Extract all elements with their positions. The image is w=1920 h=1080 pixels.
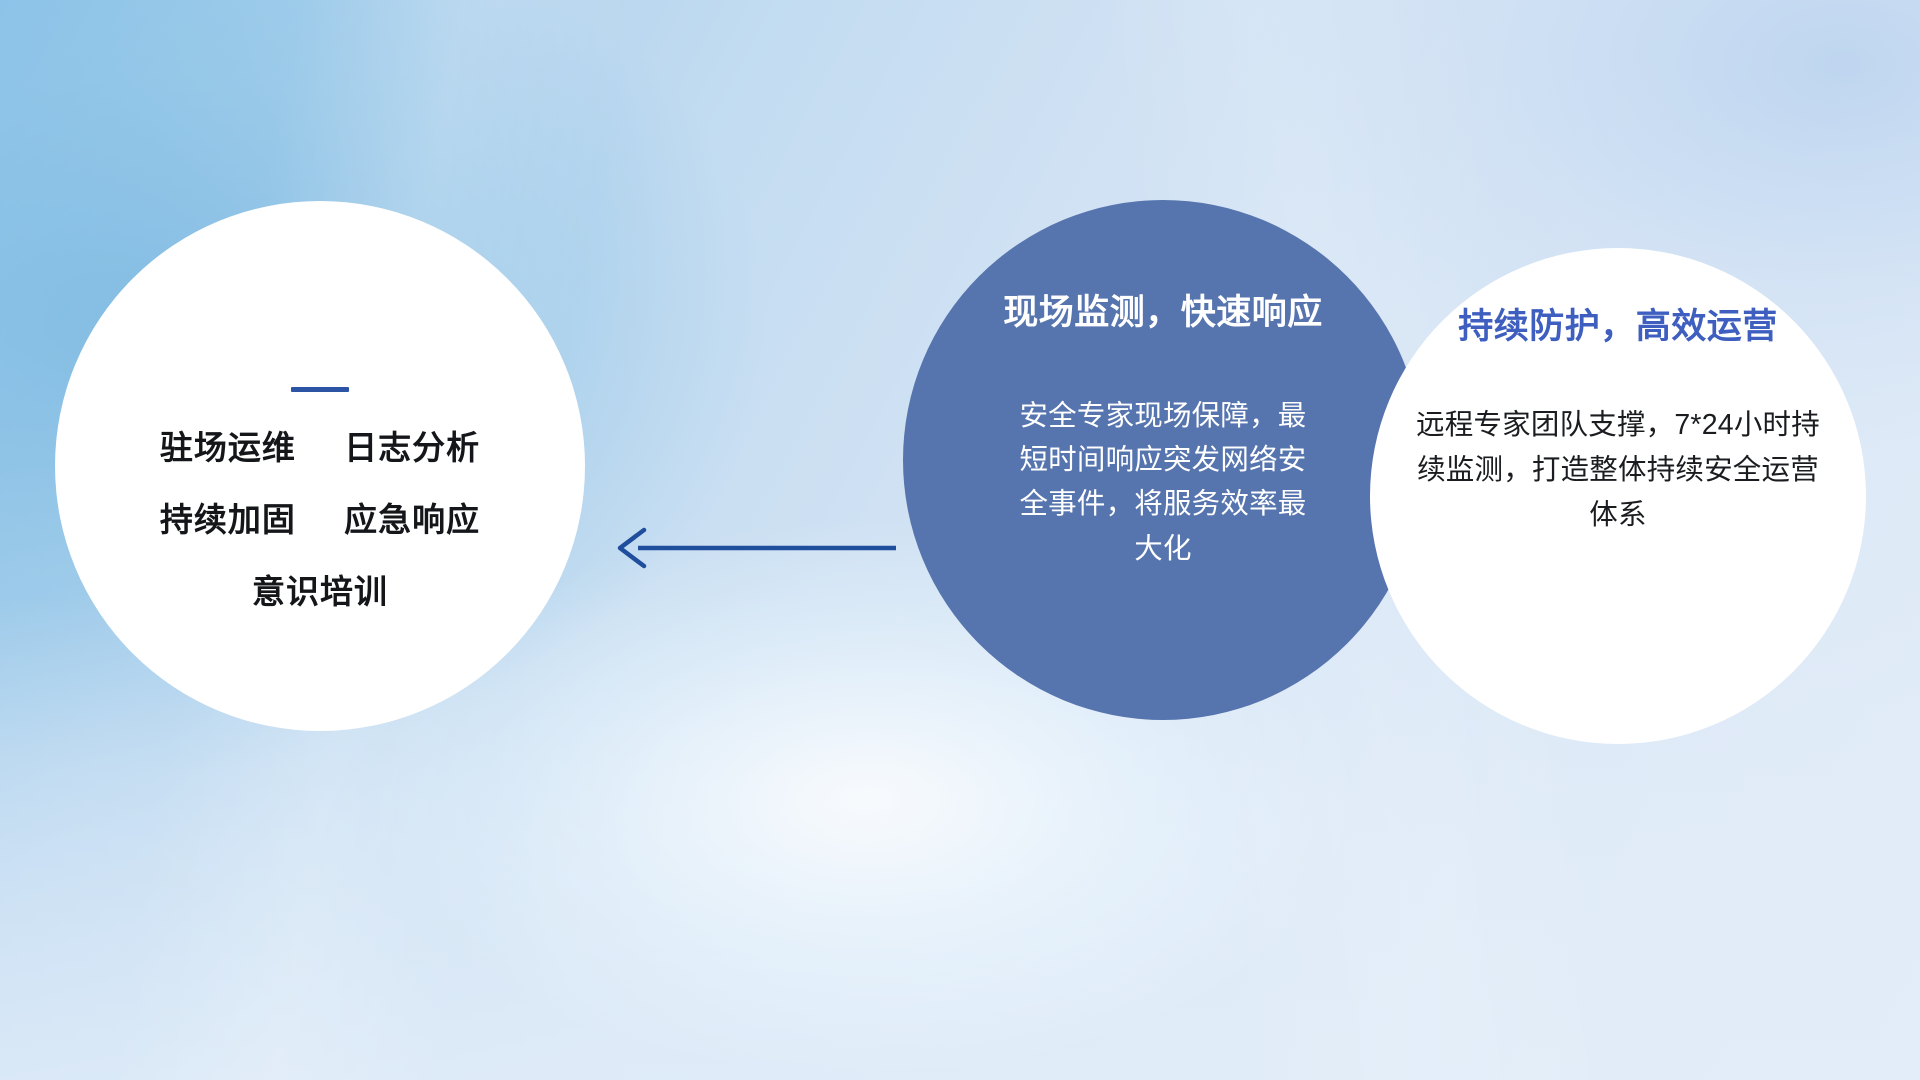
right-circle-body: 远程专家团队支撑，7*24小时持续监测，打造整体持续安全运营体系 [1408, 403, 1828, 538]
right-circle-content: 持续防护，高效运营 远程专家团队支撑，7*24小时持续监测，打造整体持续安全运营… [1370, 248, 1866, 538]
capability-label-awareness-training: 意识培训 [252, 573, 388, 610]
capability-row-3: 意识培训 [252, 575, 388, 608]
right-circle-title: 持续防护，高效运营 [1458, 308, 1778, 347]
middle-circle-content: 现场监测，快速响应 安全专家现场保障，最短时间响应突发网络安全事件，将服务效率最… [903, 200, 1423, 571]
divider-dash-icon [291, 387, 349, 392]
capability-circle-right: 持续防护，高效运营 远程专家团队支撑，7*24小时持续监测，打造整体持续安全运营… [1370, 248, 1866, 744]
capability-label-continuous-hardening: 持续加固 [160, 501, 296, 538]
capability-label-emergency-response: 应急响应 [344, 501, 480, 538]
flow-arrow-left-icon [600, 520, 900, 576]
middle-circle-title: 现场监测，快速响应 [1003, 294, 1323, 333]
capability-label-log-analysis: 日志分析 [344, 429, 480, 466]
capability-row-2: 持续加固 应急响应 [160, 503, 480, 536]
capability-label-onsite-ops: 驻场运维 [160, 429, 296, 466]
capability-row-1: 驻场运维 日志分析 [160, 431, 480, 464]
left-circle-content: 驻场运维 日志分析 持续加固 应急响应 意识培训 [55, 201, 585, 608]
middle-circle-body: 安全专家现场保障，最短时间响应突发网络安全事件，将服务效率最大化 [1008, 394, 1318, 572]
slide-canvas: 驻场运维 日志分析 持续加固 应急响应 意识培训 现场监测，快速响应 安全专家现… [0, 0, 1920, 1080]
capability-circle-left: 驻场运维 日志分析 持续加固 应急响应 意识培训 [55, 201, 585, 731]
capability-circle-middle: 现场监测，快速响应 安全专家现场保障，最短时间响应突发网络安全事件，将服务效率最… [903, 200, 1423, 720]
